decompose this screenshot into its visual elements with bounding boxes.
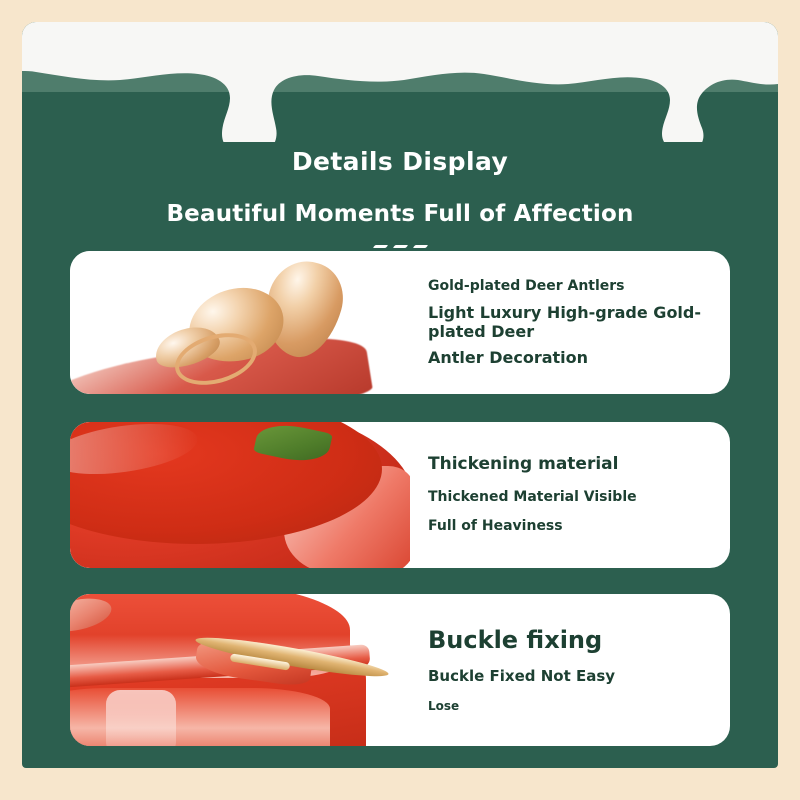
feature-line-1: Buckle Fixed Not Easy [428,667,730,685]
container-highlight [106,690,176,746]
feature-card-text: Thickening material Thickened Material V… [410,422,730,568]
header-block: Details Display Beautiful Moments Full o… [22,148,778,248]
gold-plated-deer-antler-knob-photo [70,251,410,394]
feature-line-2: Full of Heaviness [428,518,730,535]
product-detail-page: Details Display Beautiful Moments Full o… [0,0,800,800]
feature-card[interactable]: Buckle fixing Buckle Fixed Not Easy Lose [70,594,730,746]
feature-line-1: Thickened Material Visible [428,489,730,506]
slash-mark-icon [392,245,407,248]
page-title: Details Display [22,148,778,176]
feature-line-1: Light Luxury High-grade Gold-plated Deer [428,303,730,341]
white-melting-drip-decoration [22,22,778,142]
slash-decoration [22,245,778,248]
feature-heading: Buckle fixing [428,627,730,655]
feature-heading: Gold-plated Deer Antlers [428,278,730,294]
red-container-gold-buckle-photo [70,594,410,746]
slash-mark-icon [372,245,387,248]
feature-card[interactable]: Gold-plated Deer Antlers Light Luxury Hi… [70,251,730,394]
green-panel: Details Display Beautiful Moments Full o… [22,22,778,768]
feature-heading: Thickening material [428,455,730,475]
red-apple-shaped-container-photo [70,422,410,568]
feature-line-2: Lose [428,699,730,713]
slash-mark-icon [412,245,427,248]
page-subtitle: Beautiful Moments Full of Affection [22,202,778,227]
feature-card-text: Buckle fixing Buckle Fixed Not Easy Lose [410,594,730,746]
feature-line-2: Antler Decoration [428,348,730,367]
feature-card-text: Gold-plated Deer Antlers Light Luxury Hi… [410,251,730,394]
feature-card[interactable]: Thickening material Thickened Material V… [70,422,730,568]
